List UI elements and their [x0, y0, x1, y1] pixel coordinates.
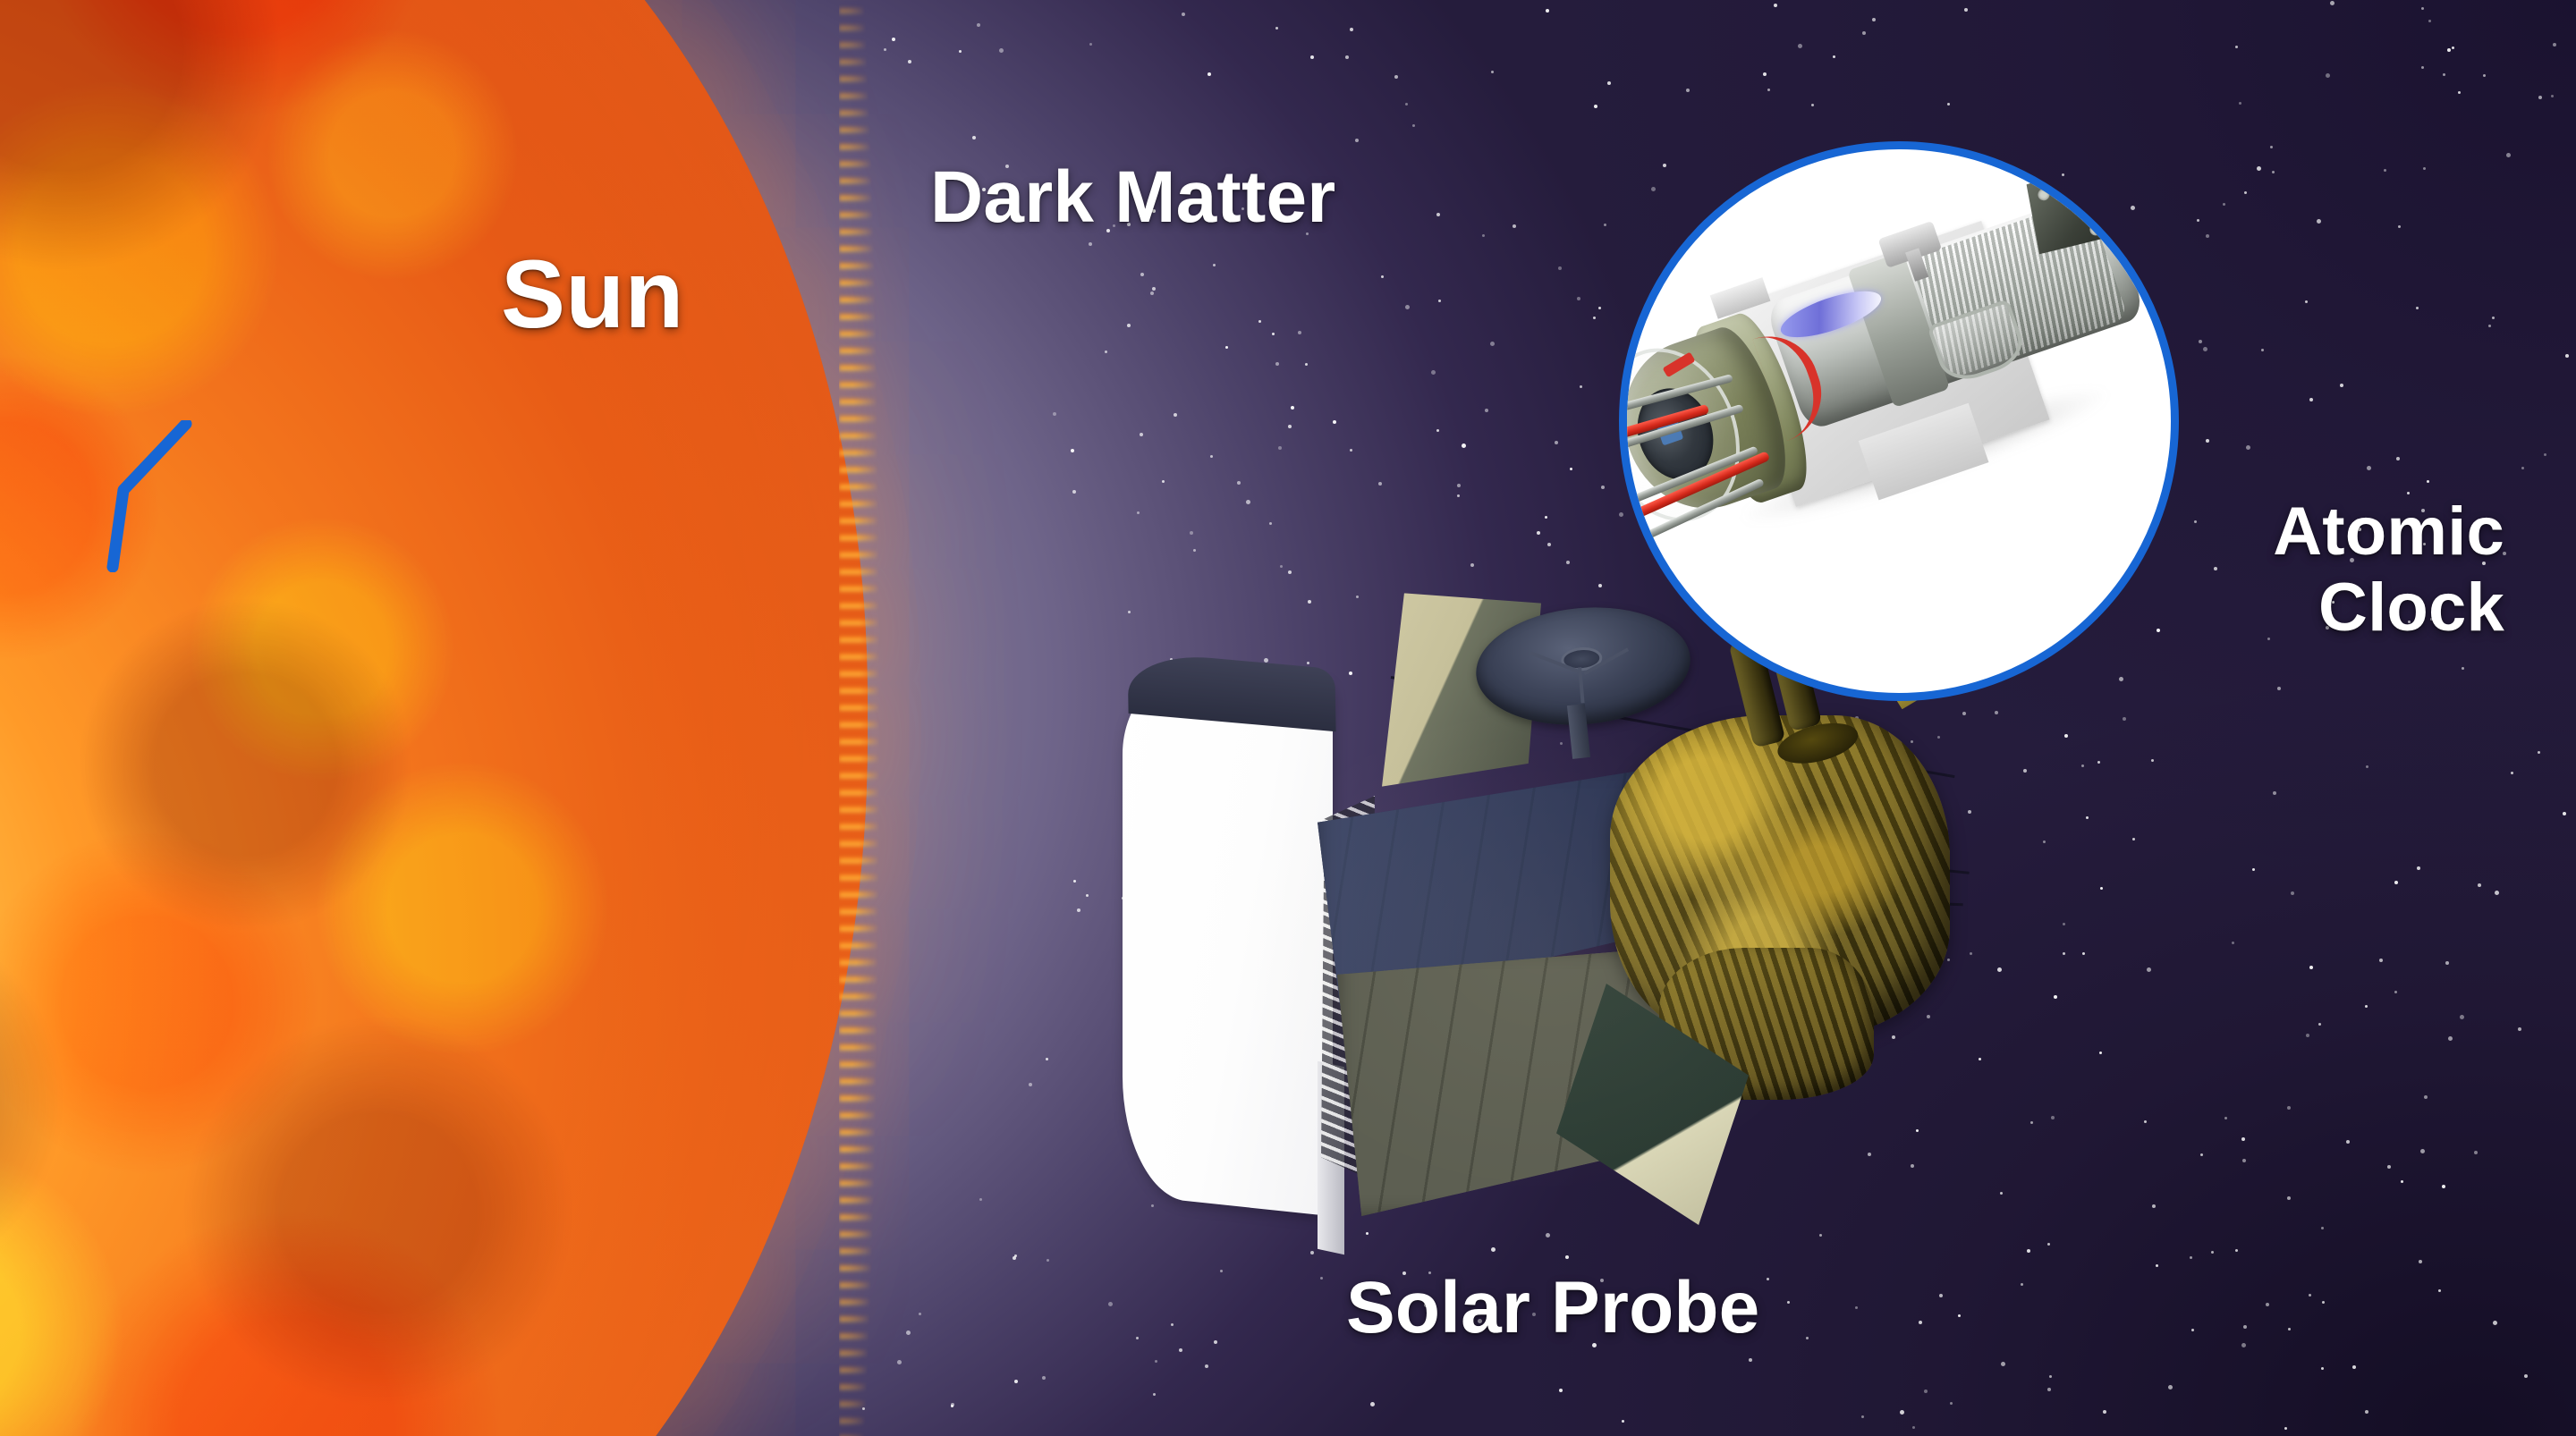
star — [2103, 1410, 2106, 1414]
star — [2199, 340, 2202, 343]
star — [2330, 1, 2334, 5]
star — [1320, 1277, 1323, 1280]
star — [1014, 1380, 1018, 1383]
star — [2123, 717, 2126, 721]
star — [2460, 1015, 2464, 1019]
star — [2277, 687, 2281, 690]
star — [2478, 883, 2481, 887]
star — [1345, 55, 1349, 59]
scene-canvas: Sun Dark Matter Atomic Clock Solar Probe — [0, 0, 2576, 1436]
star — [1559, 1389, 1563, 1392]
star — [1182, 13, 1185, 16]
star — [1278, 446, 1282, 450]
star — [1462, 443, 1466, 448]
star — [1457, 484, 1461, 487]
star — [2340, 384, 2343, 387]
star — [2151, 759, 2154, 762]
star — [2224, 1117, 2227, 1119]
star — [2427, 480, 2429, 483]
star — [2428, 20, 2431, 22]
star — [1924, 1390, 1928, 1393]
star — [2049, 1375, 2052, 1378]
star — [2387, 1165, 2391, 1169]
star — [1964, 8, 1968, 12]
star — [1593, 317, 1596, 319]
star — [1806, 1337, 1809, 1339]
star — [1470, 563, 1474, 567]
star — [1174, 413, 1177, 417]
star — [1053, 412, 1056, 416]
star — [1029, 1083, 1032, 1086]
star — [1014, 1254, 1017, 1257]
star — [1537, 531, 1540, 535]
star — [919, 1313, 921, 1315]
star — [1861, 1415, 1864, 1418]
star — [2214, 567, 2217, 570]
star — [2242, 1159, 2246, 1162]
star — [1269, 522, 1272, 525]
star — [2318, 1023, 2321, 1026]
star — [1193, 549, 1196, 552]
star — [1179, 1348, 1182, 1352]
star — [1594, 105, 1597, 108]
star — [2379, 959, 2383, 962]
star — [2445, 961, 2449, 965]
star — [2190, 1256, 2192, 1259]
star — [2448, 1036, 2453, 1041]
star — [1237, 481, 1241, 485]
star — [1436, 429, 1439, 432]
star — [2001, 1362, 2005, 1366]
star — [2270, 146, 2273, 148]
star — [1580, 385, 1582, 388]
star — [2152, 1204, 2156, 1208]
star — [1457, 494, 1460, 497]
star — [1558, 266, 1562, 270]
label-dark-matter: Dark Matter — [930, 161, 1335, 234]
star — [2305, 300, 2308, 303]
star — [1207, 72, 1211, 76]
star — [2317, 219, 2321, 224]
star — [2443, 73, 2445, 76]
star — [951, 1403, 954, 1406]
label-sun: Sun — [501, 246, 684, 342]
star — [2054, 995, 2057, 999]
star — [1127, 324, 1131, 327]
star — [1749, 1358, 1752, 1362]
star — [2211, 1251, 2214, 1254]
star — [2394, 991, 2397, 993]
star — [1491, 71, 1494, 73]
star — [1280, 565, 1283, 568]
star — [1798, 44, 1802, 48]
star — [897, 1360, 902, 1364]
star — [2352, 1365, 2356, 1369]
star — [2200, 1153, 2203, 1156]
star — [959, 50, 962, 53]
star — [2287, 1106, 2291, 1110]
star — [2309, 1294, 2311, 1297]
star — [2266, 1303, 2269, 1306]
star — [2047, 1243, 2050, 1246]
star — [1288, 570, 1292, 574]
star — [1485, 409, 1488, 412]
star — [1355, 139, 1359, 142]
star — [2506, 153, 2511, 157]
star — [2223, 203, 2225, 206]
star — [2366, 765, 2368, 768]
star — [2197, 219, 2199, 222]
star — [1298, 331, 1301, 334]
star — [2511, 772, 2513, 774]
star — [2417, 866, 2420, 870]
star — [1607, 81, 1611, 85]
star — [1970, 952, 1972, 955]
star — [1288, 425, 1292, 428]
star — [1947, 959, 1950, 961]
star — [1046, 1259, 1049, 1262]
star — [2099, 1052, 2102, 1054]
star — [1205, 1364, 1208, 1368]
star — [1310, 55, 1314, 59]
star — [1246, 500, 1250, 504]
star — [1072, 490, 1076, 494]
star — [2474, 1151, 2478, 1154]
star — [2442, 1185, 2445, 1188]
star — [1350, 28, 1353, 31]
star — [2267, 638, 2270, 640]
star — [2147, 967, 2151, 972]
star — [1105, 351, 1107, 353]
star — [2565, 354, 2569, 358]
star — [2563, 812, 2566, 815]
star — [1937, 736, 1940, 739]
star — [2396, 457, 2400, 460]
star — [2447, 48, 2451, 52]
star — [2232, 942, 2234, 944]
label-atomic-clock: Atomic Clock — [2273, 494, 2504, 646]
star — [1394, 75, 1398, 79]
star — [1979, 1058, 1981, 1060]
star — [977, 23, 980, 27]
star — [1601, 486, 1605, 489]
star — [2144, 1120, 2147, 1123]
star — [1763, 72, 1767, 76]
star — [1225, 346, 1228, 349]
sun-limb-shading — [0, 0, 868, 1436]
star — [1150, 291, 1154, 295]
star — [2416, 307, 2419, 309]
star — [1555, 441, 1558, 444]
star — [1947, 103, 1950, 106]
star — [1140, 273, 1144, 276]
star — [1912, 1426, 1915, 1429]
star — [2132, 838, 2135, 840]
star — [2081, 764, 2084, 767]
star — [1862, 31, 1866, 35]
star — [2538, 751, 2540, 754]
star — [2241, 1343, 2246, 1347]
star — [2346, 1140, 2350, 1144]
star — [2438, 1289, 2441, 1292]
star — [1547, 543, 1551, 546]
star — [1291, 406, 1294, 410]
star — [1962, 712, 1966, 715]
star — [1855, 1306, 1858, 1309]
star — [908, 60, 911, 63]
star — [2273, 791, 2276, 795]
star — [2287, 1196, 2291, 1200]
star — [1162, 480, 1165, 483]
star — [1071, 449, 1074, 452]
star — [884, 48, 886, 51]
star — [1350, 449, 1352, 452]
star — [2326, 73, 2330, 78]
star — [2309, 398, 2313, 401]
star — [1436, 213, 1440, 216]
star — [1604, 224, 1606, 226]
star — [1275, 27, 1278, 30]
star — [2191, 1329, 2194, 1331]
atomic-clock-callout[interactable] — [1619, 141, 2179, 701]
star — [2538, 96, 2542, 99]
star — [1136, 1337, 1139, 1339]
star — [1370, 1402, 1375, 1406]
atomic-clock-instrument — [1619, 142, 2173, 607]
star — [2367, 466, 2371, 470]
star — [2423, 167, 2426, 170]
star — [2100, 887, 2103, 890]
star — [2291, 891, 2294, 895]
star — [2194, 520, 2197, 523]
star — [1490, 342, 1495, 346]
star — [2492, 317, 2495, 319]
star — [2235, 46, 2238, 48]
star — [1108, 1302, 1113, 1306]
star — [1171, 1323, 1174, 1326]
star — [2243, 1325, 2247, 1329]
star — [2097, 761, 2100, 764]
star — [1213, 264, 1216, 266]
star — [892, 38, 895, 41]
star — [1811, 104, 1814, 106]
star — [2488, 325, 2491, 327]
label-solar-probe: Solar Probe — [1346, 1271, 1759, 1345]
star — [1900, 1410, 1904, 1415]
sun — [0, 0, 868, 1436]
star — [2043, 840, 2046, 843]
star — [1046, 1058, 1048, 1060]
sun-disk — [0, 0, 868, 1436]
star — [1140, 433, 1143, 436]
star — [1155, 1360, 1157, 1363]
star — [2424, 1095, 2428, 1099]
star — [1919, 1321, 1922, 1324]
star — [2518, 1027, 2521, 1031]
star — [1190, 531, 1193, 535]
star — [2321, 1227, 2324, 1229]
star — [1622, 1420, 1624, 1423]
star — [2421, 7, 2424, 10]
star — [1577, 297, 1580, 300]
star — [1378, 482, 1382, 486]
star — [1077, 908, 1080, 912]
star — [2322, 1301, 2325, 1304]
star — [1153, 1393, 1156, 1396]
star — [1438, 300, 1441, 302]
star — [2027, 1249, 2030, 1253]
star — [2306, 1034, 2309, 1037]
star — [2030, 1121, 2033, 1124]
star — [2419, 1260, 2422, 1263]
sun-prominences — [839, 0, 880, 1436]
star — [2203, 347, 2207, 351]
star — [979, 1198, 982, 1201]
star — [1137, 511, 1140, 514]
star — [1767, 1278, 1769, 1280]
star — [2394, 881, 2398, 884]
star — [1089, 242, 1092, 246]
star — [1997, 967, 2002, 972]
star — [2051, 1116, 2055, 1119]
star — [1513, 224, 1516, 228]
star — [2284, 1427, 2287, 1430]
star — [2257, 166, 2261, 171]
star — [2551, 95, 2554, 97]
star — [1767, 89, 1770, 91]
star — [1787, 1301, 1790, 1304]
star — [1431, 370, 1436, 375]
star — [1275, 362, 1279, 366]
heat-shield — [1123, 658, 1333, 1217]
star — [2241, 1137, 2245, 1141]
star — [1598, 584, 1602, 587]
star — [2309, 966, 2313, 969]
star — [1258, 320, 1261, 323]
star — [2365, 1410, 2368, 1414]
star — [1220, 1270, 1223, 1272]
star — [1412, 124, 1415, 127]
star — [1686, 89, 1690, 92]
star — [972, 136, 976, 139]
star — [2452, 46, 2454, 49]
star — [2493, 1321, 2497, 1325]
star — [1042, 1376, 1046, 1380]
star — [1405, 103, 1408, 106]
star — [1546, 9, 1549, 13]
star — [2239, 102, 2241, 105]
star — [1833, 55, 1835, 58]
star — [1210, 455, 1213, 458]
star — [1482, 234, 1485, 237]
star — [2064, 734, 2068, 738]
star — [2168, 1385, 2173, 1390]
star — [2206, 234, 2209, 238]
star — [1214, 1340, 1217, 1344]
star — [2261, 349, 2264, 351]
star — [1405, 305, 1410, 309]
star — [2244, 191, 2247, 194]
star — [2521, 467, 2524, 469]
star — [2235, 1249, 2238, 1252]
star — [2206, 439, 2209, 443]
star — [1968, 810, 1971, 814]
star — [2086, 816, 2089, 819]
star — [2398, 225, 2401, 228]
star — [2544, 453, 2546, 456]
star — [1272, 333, 1275, 335]
star — [2252, 868, 2255, 871]
star — [1950, 1402, 1953, 1405]
star — [1089, 43, 1092, 46]
star — [2063, 952, 2065, 955]
star — [2047, 1388, 2051, 1391]
star — [2023, 769, 2027, 773]
star — [1545, 516, 1547, 519]
star — [2553, 43, 2556, 46]
star — [1073, 880, 1076, 883]
star — [2272, 171, 2275, 173]
star — [2483, 74, 2486, 77]
star — [2246, 445, 2250, 450]
star — [2401, 1180, 2403, 1183]
star — [999, 48, 1004, 53]
star — [2495, 891, 2499, 895]
star — [1598, 307, 1601, 309]
star — [1333, 420, 1336, 424]
star — [2021, 1283, 2023, 1286]
star — [2384, 169, 2386, 172]
star — [2063, 923, 2065, 925]
star — [2458, 91, 2461, 94]
callout-circle — [1619, 141, 2179, 701]
star — [1872, 18, 1876, 21]
star — [2524, 1374, 2528, 1378]
star — [1958, 1314, 1961, 1317]
star — [1566, 561, 1570, 564]
star — [2365, 1005, 2368, 1008]
star — [2462, 667, 2464, 670]
star — [1570, 468, 1572, 470]
star — [2082, 952, 2085, 955]
star — [2321, 1367, 2324, 1370]
star — [2000, 1192, 2003, 1195]
star — [1305, 363, 1308, 366]
star — [2421, 66, 2424, 69]
star — [906, 1330, 911, 1335]
star — [1152, 287, 1156, 291]
star — [2156, 1264, 2158, 1267]
star — [2288, 1328, 2291, 1330]
star — [1995, 711, 1998, 714]
star — [1939, 1294, 1943, 1297]
star — [1086, 894, 1089, 897]
star — [1774, 4, 1777, 7]
star — [1381, 275, 1384, 278]
star — [2420, 1149, 2425, 1153]
